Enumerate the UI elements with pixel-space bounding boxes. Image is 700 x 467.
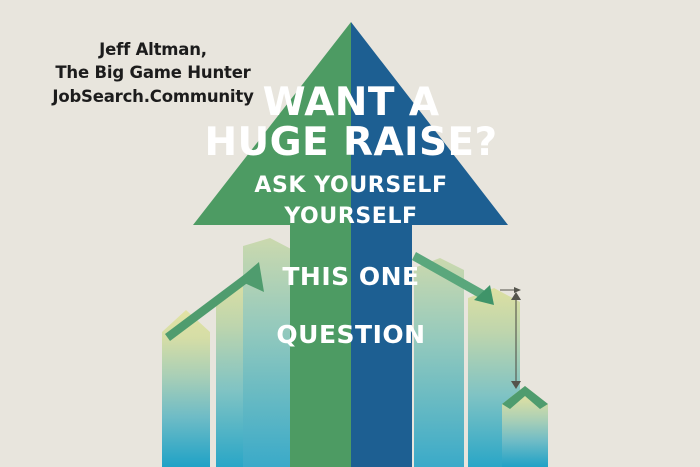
poster-canvas: Jeff Altman, The Big Game Hunter JobSear… xyxy=(0,0,700,467)
subhead-line-1: THIS ONE xyxy=(193,262,509,291)
subhead-line-2: QUESTION xyxy=(193,320,509,349)
branding-line-1: Jeff Altman, xyxy=(38,38,268,61)
branding-line-2: The Big Game Hunter xyxy=(38,61,268,84)
branding-line-3: JobSearch.Community xyxy=(38,85,268,108)
branding-block: Jeff Altman, The Big Game Hunter JobSear… xyxy=(38,38,268,108)
